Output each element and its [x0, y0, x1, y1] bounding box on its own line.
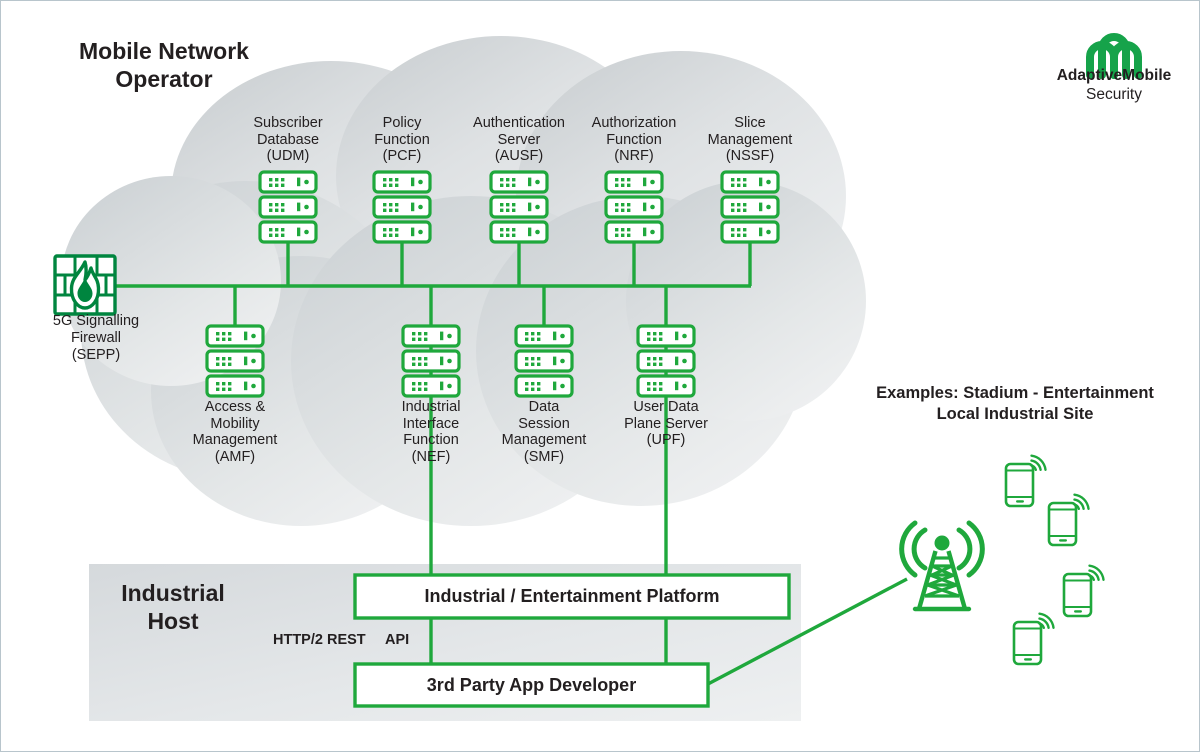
cell-tower-icon [902, 523, 983, 609]
firewall-label: 5G SignallingFirewall(SEPP) [21, 313, 171, 364]
server-stack-icon-pcf [374, 172, 430, 242]
diagram-frame: Mobile NetworkOperator IndustrialHost 5G… [0, 0, 1200, 752]
developer-box-label: 3rd Party App Developer [355, 664, 708, 706]
industrial-host-title: IndustrialHost [93, 579, 253, 635]
mobile-phone-signal-icon-3 [1064, 566, 1104, 616]
api-label-left: HTTP/2 REST [273, 632, 366, 648]
server-stack-icon-nrf [606, 172, 662, 242]
server-stack-icon-nef [403, 326, 459, 396]
nf-label-amf: Access &MobilityManagement(AMF) [155, 399, 315, 465]
server-stack-icon-amf [207, 326, 263, 396]
server-stack-icon-nssf [722, 172, 778, 242]
mobile-phone-signal-icon-2 [1049, 495, 1089, 545]
nf-label-nssf: SliceManagement(NSSF) [675, 115, 825, 165]
server-stack-icon-smf [516, 326, 572, 396]
logo-line-2: Security [1039, 86, 1189, 105]
server-stack-icon-ausf [491, 172, 547, 242]
api-label-right: API [385, 632, 409, 648]
server-stack-icon-udm [260, 172, 316, 242]
nf-label-upf: User DataPlane Server(UPF) [586, 399, 746, 449]
logo-line-1: AdaptiveMobile [1039, 67, 1189, 86]
page-title: Mobile NetworkOperator [49, 37, 279, 93]
firewall-brick-flame-icon [55, 256, 115, 314]
mobile-phone-signal-icon-4 [1014, 614, 1054, 664]
platform-box-label: Industrial / Entertainment Platform [355, 575, 789, 618]
examples-caption: Examples: Stadium - EntertainmentLocal I… [841, 383, 1189, 426]
mobile-phone-signal-icon-1 [1006, 456, 1046, 506]
logo-wordmark: AdaptiveMobile Security [1039, 67, 1189, 105]
server-stack-icon-upf [638, 326, 694, 396]
diagram-canvas [1, 1, 1200, 753]
